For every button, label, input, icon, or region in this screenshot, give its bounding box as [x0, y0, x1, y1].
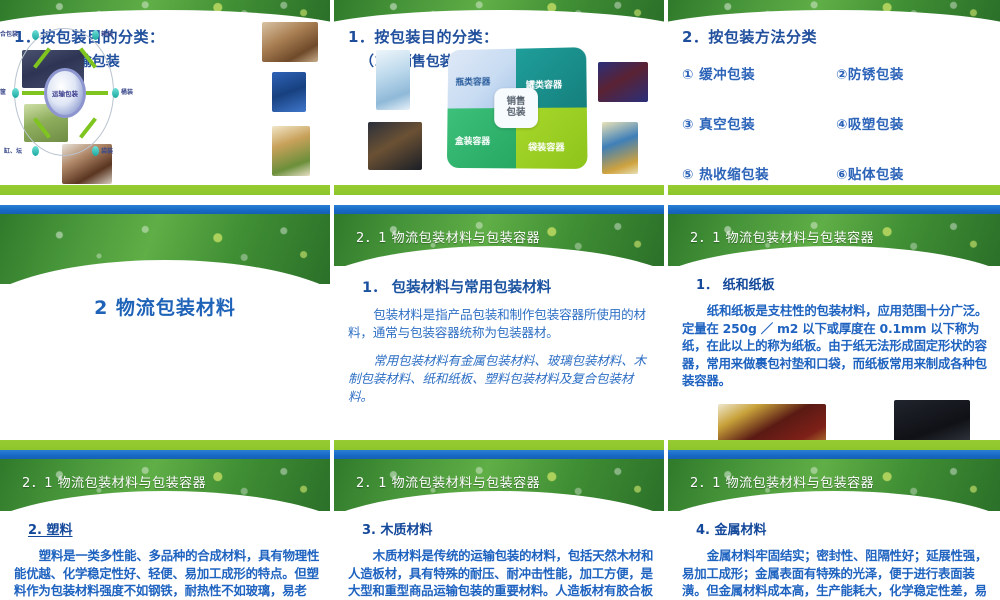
section-heading: 1． 包装材料与常用包装材料 — [362, 276, 654, 297]
slide-footer-bar — [0, 185, 330, 195]
slide-top-rule — [334, 205, 664, 214]
slide-frame: 2．1 物流包装材料与包装容器 3. 木质材料 木质材料是传统的运输包装的材料，… — [334, 450, 664, 600]
body-paragraph-1: 纸和纸板是支柱性的包装材料，应用范围十分广泛。定量在 250g ／ m2 以下或… — [682, 302, 990, 390]
slide-footer-bar — [668, 440, 1000, 450]
slide-thumbnail-8[interactable]: 2．1 物流包装材料与包装容器 3. 木质材料 木质材料是传统的运输包装的材料，… — [334, 450, 668, 600]
section-heading: 1． 纸和纸板 — [696, 274, 990, 293]
quadrant-label-bottles: 瓶类容器 — [455, 75, 490, 88]
leaf-header-image — [668, 0, 1000, 22]
slide-top-rule — [668, 450, 1000, 459]
slide-frame: 2．1 物流包装材料与包装容器 1． 纸和纸板 纸和纸板是支柱性的包装材料，应用… — [668, 205, 1000, 450]
slide-body: 2. 塑料 塑料是一类多性能、多品种的合成材料，具有物理性能优越、化学稳定性好、… — [0, 511, 330, 600]
page-title: 2．按包装方法分类 — [682, 26, 990, 47]
slide-frame: 1．按包装目的分类： （1）销售包装 瓶类容器 罐类容器 — [334, 0, 664, 205]
slide-body: 2．按包装方法分类 ① 缓冲包装 ②防锈包装 ③ 真空包装 ④吸塑包装 ⑤ 热收… — [668, 22, 1000, 181]
photo-perfume-bottle — [376, 50, 410, 110]
section-heading: 2. 塑料 — [28, 519, 320, 538]
slide-body: 3. 木质材料 木质材料是传统的运输包装的材料，包括天然木材和人造板材，具有特殊… — [334, 511, 664, 600]
body-paragraph-1: 金属材料牢固结实；密封性、阻隔性好；延展性强，易加工成形；金属表面有特殊的光泽，… — [682, 547, 990, 600]
slide-body: 1．按包装目的分类： （1）销售包装 瓶类容器 罐类容器 — [334, 22, 664, 181]
slide-frame: 2．按包装方法分类 ① 缓冲包装 ②防锈包装 ③ 真空包装 ④吸塑包装 ⑤ 热收… — [668, 0, 1000, 205]
slide-header-title: 2．1 物流包装材料与包装容器 — [22, 472, 206, 491]
slide-body: 4. 金属材料 金属材料牢固结实；密封性、阻隔性好；延展性强，易加工成形；金属表… — [668, 511, 1000, 600]
slide-frame: 1．按包装目的分类： （1）运输包装 运输包装 — [0, 0, 330, 205]
slide-thumbnail-1[interactable]: 1．按包装目的分类： （1）运输包装 运输包装 — [0, 0, 334, 205]
quadrant-label-bags: 袋装容器 — [528, 140, 565, 153]
leaf-header-image — [0, 0, 330, 22]
photo-jewelry-gift-box — [368, 122, 422, 170]
section-heading: 3. 木质材料 — [362, 519, 654, 538]
method-item-2: ②防锈包装 — [836, 63, 990, 83]
quadrant-label-boxes: 盒装容器 — [455, 134, 490, 147]
method-item-6: ⑥贴体包装 — [836, 163, 990, 183]
quadrant-center-badge: 销售 包装 — [494, 88, 538, 128]
node-dot-top-left — [32, 30, 39, 40]
slide-footer-gap — [668, 195, 1000, 205]
photo-blue-jerrycan — [272, 72, 306, 112]
slide-frame: 2．1 物流包装材料与包装容器 4. 金属材料 金属材料牢固结实；密封性、阻隔性… — [668, 450, 1000, 600]
slide-top-rule — [334, 450, 664, 459]
transport-packaging-diagram: 运输包装 — [0, 22, 330, 181]
node-dot-left — [12, 88, 19, 98]
slide-body: 1．按包装目的分类： （1）运输包装 运输包装 — [0, 22, 330, 181]
node-label-gangtan: 缸、坛 — [4, 146, 22, 155]
slide-top-rule — [668, 205, 1000, 214]
packaging-methods-list: ① 缓冲包装 ②防锈包装 ③ 真空包装 ④吸塑包装 ⑤ 热收缩包装 ⑥贴体包装 — [682, 63, 990, 183]
section-heading: 4. 金属材料 — [696, 519, 990, 538]
slide-thumbnail-4[interactable]: 2 物流包装材料 — [0, 205, 334, 450]
node-label-daizhuang: 袋装 — [101, 146, 113, 155]
node-dot-bottom-left — [32, 146, 39, 156]
diagram-center-node: 运输包装 — [44, 68, 86, 118]
slide-body: 1． 纸和纸板 纸和纸板是支柱性的包装材料，应用范围十分广泛。定量在 250g … — [668, 266, 1000, 436]
arrow-right — [86, 91, 108, 95]
node-dot-top-right — [92, 30, 99, 40]
method-item-1: ① 缓冲包装 — [682, 63, 836, 83]
node-label-tongzhuang: 桶装 — [121, 87, 133, 96]
slide-footer-bar — [0, 440, 330, 450]
slide-top-rule — [0, 205, 330, 214]
node-label-jihe: 集合包装 — [0, 29, 18, 38]
slide-footer-bar — [334, 440, 664, 450]
node-label-zhulou: 竹篓、柳条筐 — [0, 87, 6, 96]
node-label-xiangzhuang: 箱装 — [101, 29, 113, 38]
photo-snack-bag — [602, 122, 638, 174]
node-dot-bottom-right — [92, 146, 99, 156]
quadrant-center-line2: 包装 — [507, 107, 526, 118]
slide-footer-bar — [334, 185, 664, 195]
slide-footer-gap — [0, 195, 330, 205]
slide-frame: 2．1 物流包装材料与包装容器 1． 包装材料与常用包装材料 包装材料是指产品包… — [334, 205, 664, 450]
section-cover-title: 2 物流包装材料 — [0, 293, 330, 320]
slide-body: 1． 包装材料与常用包装材料 包装材料是指产品包装和制作包装容器所使用的材料，通… — [334, 266, 664, 436]
slide-header-title: 2．1 物流包装材料与包装容器 — [356, 472, 540, 491]
method-item-4: ④吸塑包装 — [836, 113, 990, 133]
slide-thumbnail-5[interactable]: 2．1 物流包装材料与包装容器 1． 包装材料与常用包装材料 包装材料是指产品包… — [334, 205, 668, 450]
method-item-3: ③ 真空包装 — [682, 113, 836, 133]
slide-thumbnail-7[interactable]: 2．1 物流包装材料与包装容器 2. 塑料 塑料是一类多性能、多品种的合成材料，… — [0, 450, 334, 600]
arrow-left — [22, 91, 44, 95]
body-paragraph-1: 包装材料是指产品包装和制作包装容器所使用的材料，通常与包装容器统称为包装器材。 — [348, 306, 654, 343]
leaf-header-image — [0, 214, 330, 284]
quadrant-center-line1: 销售 — [507, 96, 526, 107]
node-dot-right — [112, 88, 119, 98]
leaf-header-image — [334, 0, 664, 22]
slide-header-title: 2．1 物流包装材料与包装容器 — [356, 227, 540, 246]
body-paragraph-2: 常用包装材料有金属包装材料、玻璃包装材料、木制包装材料、纸和纸板、塑料包装材料及… — [348, 352, 654, 407]
photo-cola-can — [598, 62, 648, 102]
slide-top-rule — [0, 450, 330, 459]
body-paragraph-1: 木质材料是传统的运输包装的材料，包括天然木材和人造板材，具有特殊的耐压、耐冲击性… — [348, 547, 654, 600]
diagram-center-label: 运输包装 — [52, 88, 78, 98]
slide-footer-bar — [668, 185, 1000, 195]
slide-thumbnail-3[interactable]: 2．按包装方法分类 ① 缓冲包装 ②防锈包装 ③ 真空包装 ④吸塑包装 ⑤ 热收… — [668, 0, 1000, 205]
slide-frame: 2 物流包装材料 — [0, 205, 330, 450]
body-paragraph-1: 塑料是一类多性能、多品种的合成材料，具有物理性能优越、化学稳定性好、轻便、易加工… — [14, 547, 320, 600]
photo-foil-pouch — [272, 126, 310, 176]
slide-thumbnail-6[interactable]: 2．1 物流包装材料与包装容器 1． 纸和纸板 纸和纸板是支柱性的包装材料，应用… — [668, 205, 1000, 450]
slide-header-title: 2．1 物流包装材料与包装容器 — [690, 472, 874, 491]
photo-wooden-crate — [262, 22, 318, 62]
slide-header-title: 2．1 物流包装材料与包装容器 — [690, 227, 874, 246]
slide-thumbnail-9[interactable]: 2．1 物流包装材料与包装容器 4. 金属材料 金属材料牢固结实；密封性、阻隔性… — [668, 450, 1000, 600]
slide-frame: 2．1 物流包装材料与包装容器 2. 塑料 塑料是一类多性能、多品种的合成材料，… — [0, 450, 330, 600]
slide-footer-gap — [334, 195, 664, 205]
method-item-5: ⑤ 热收缩包装 — [682, 163, 836, 183]
quadrant-diagram: 瓶类容器 罐类容器 盒装容器 袋装容器 销售 — [447, 47, 588, 169]
sales-packaging-diagram: 瓶类容器 罐类容器 盒装容器 袋装容器 销售 — [334, 22, 664, 181]
slide-thumbnail-2[interactable]: 1．按包装目的分类： （1）销售包装 瓶类容器 罐类容器 — [334, 0, 668, 205]
slide-thumbnail-grid: 1．按包装目的分类： （1）运输包装 运输包装 — [0, 0, 1000, 600]
